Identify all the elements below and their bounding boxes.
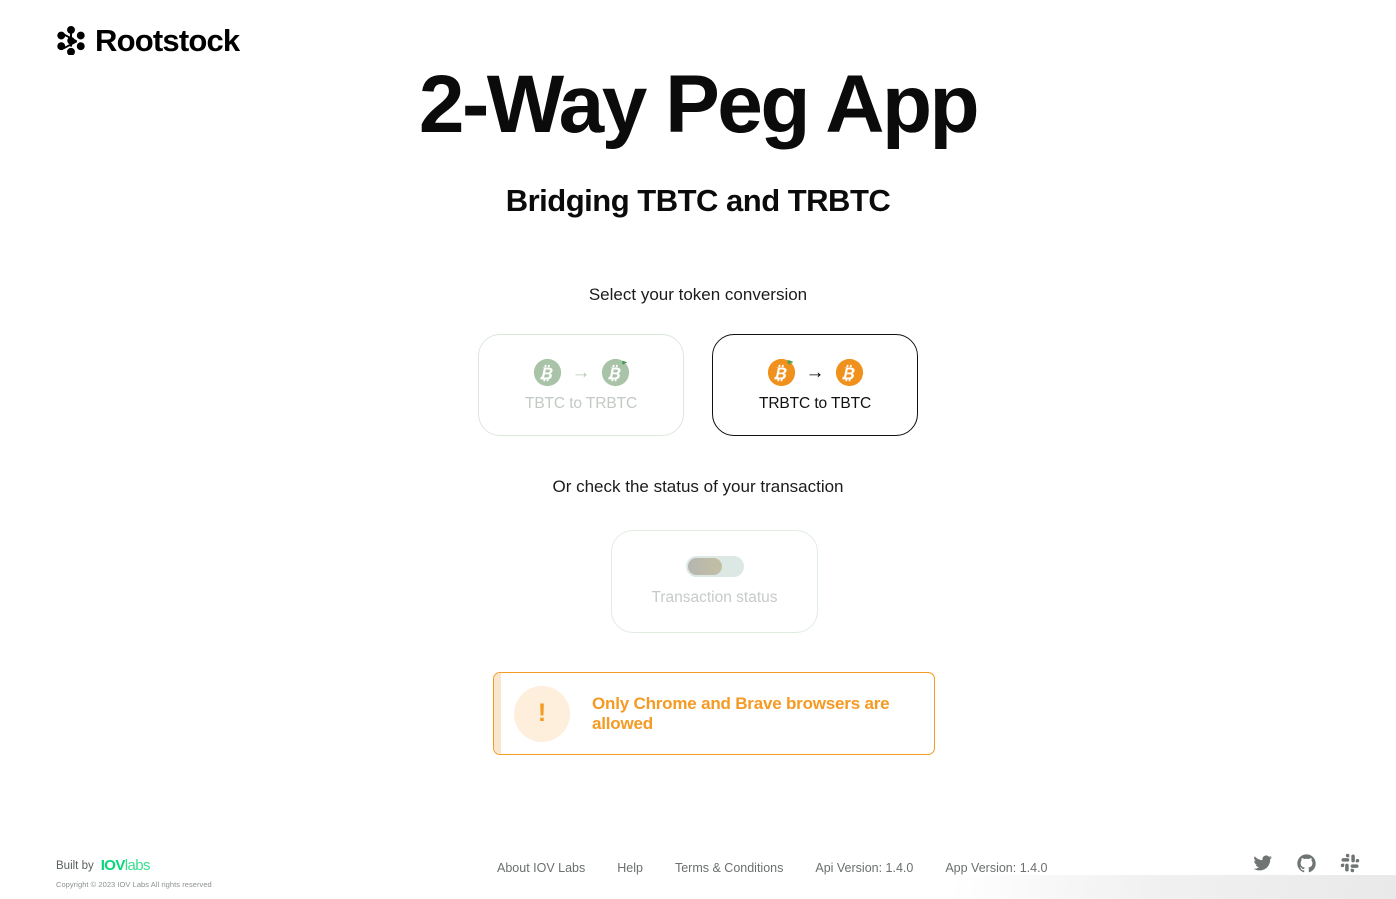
footer-social-links: [1251, 852, 1361, 874]
bitcoin-coin-icon: [533, 358, 562, 387]
brand-logo[interactable]: Rootstock: [56, 24, 239, 56]
page-subtitle: Bridging TBTC and TRBTC: [0, 183, 1396, 219]
built-by-row: Built by IOVlabs: [56, 858, 212, 873]
twitter-icon[interactable]: [1251, 852, 1273, 874]
iovlabs-logo[interactable]: IOVlabs: [101, 858, 150, 873]
slack-icon[interactable]: [1339, 852, 1361, 874]
card-icon-row: →: [767, 357, 864, 387]
browser-warning-alert: ! Only Chrome and Brave browsers are all…: [493, 672, 935, 755]
rootstock-flower-icon: [56, 25, 86, 55]
card-icon-row: →: [533, 357, 630, 387]
alert-message: Only Chrome and Brave browsers are allow…: [592, 694, 934, 734]
footer-links: About IOV Labs Help Terms & Conditions A…: [497, 861, 1048, 875]
conversion-section-label: Select your token conversion: [0, 285, 1396, 305]
conversion-card-tbtc-to-trbtc[interactable]: → TBTC to TRBTC: [478, 334, 684, 436]
footer-branding: Built by IOVlabs Copyright © 2023 IOV La…: [56, 858, 212, 889]
github-icon[interactable]: [1295, 852, 1317, 874]
conversion-card-group: → TBTC to TRBTC: [0, 334, 1396, 436]
card-label: TBTC to TRBTC: [525, 395, 637, 413]
copyright-text: Copyright © 2023 IOV Labs All rights res…: [56, 880, 212, 889]
conversion-card-trbtc-to-tbtc[interactable]: → TRBTC to TBTC: [712, 334, 918, 436]
footer-link-help[interactable]: Help: [617, 861, 643, 875]
status-section-label: Or check the status of your transaction: [0, 477, 1396, 497]
transaction-status-label: Transaction status: [651, 589, 777, 607]
card-label: TRBTC to TBTC: [759, 395, 871, 413]
footer-api-version: Api Version: 1.4.0: [815, 861, 913, 875]
iovlabs-logo-thin: labs: [125, 857, 150, 874]
toggle-switch-icon[interactable]: [686, 556, 744, 577]
arrow-right-icon: →: [572, 363, 591, 382]
bitcoin-coin-icon: [835, 358, 864, 387]
brand-name: Rootstock: [95, 25, 239, 56]
alert-accent-bar: [494, 673, 501, 754]
rootstock-bitcoin-coin-icon: [601, 358, 630, 387]
rootstock-bitcoin-coin-icon: [767, 358, 796, 387]
page-title: 2-Way Peg App: [0, 62, 1396, 149]
exclamation-icon: !: [514, 686, 570, 742]
built-by-label: Built by: [56, 860, 94, 872]
iovlabs-logo-bold: IOV: [101, 857, 125, 874]
footer-app-version: App Version: 1.4.0: [945, 861, 1047, 875]
arrow-right-icon: →: [806, 363, 825, 382]
hero: 2-Way Peg App Bridging TBTC and TRBTC: [0, 62, 1396, 219]
transaction-status-card[interactable]: Transaction status: [611, 530, 818, 633]
footer-link-terms-and-conditions[interactable]: Terms & Conditions: [675, 861, 783, 875]
footer-link-about-iov-labs[interactable]: About IOV Labs: [497, 861, 585, 875]
